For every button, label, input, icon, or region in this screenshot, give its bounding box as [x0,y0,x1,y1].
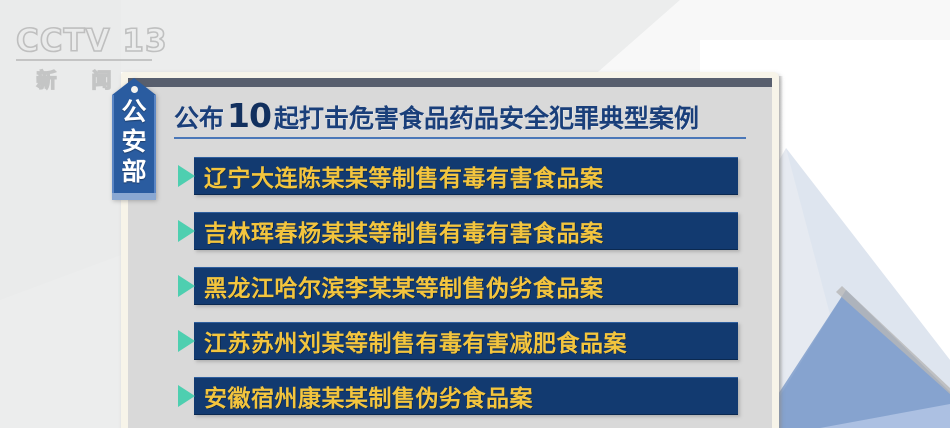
badge-body: 公 安 部 [112,95,156,193]
badge-foot [112,193,156,200]
badge-char-3: 部 [114,157,154,187]
case-list: 辽宁大连陈某某等制售有毒有害食品案 吉林珲春杨某某等制售有毒有害食品案 黑龙江哈… [178,157,738,415]
card-top-bar [128,78,772,87]
case-title: 黑龙江哈尔滨李某某等制售伪劣食品案 [204,269,604,303]
badge-tip-shape [112,78,156,95]
headline-suffix: 起打击危害食品药品安全犯罪典型案例 [274,104,699,133]
case-title: 江苏苏州刘某等制售有毒有害减肥食品案 [204,324,627,358]
badge-hole [131,86,138,93]
card-edge-shadow [779,76,783,428]
list-item: 黑龙江哈尔滨李某某等制售伪劣食品案 [178,267,738,305]
case-title: 安徽宿州康某某制售伪劣食品案 [204,379,533,413]
list-item: 江苏苏州刘某等制售有毒有害减肥食品案 [178,322,738,360]
triangle-right-icon [178,275,195,297]
headline-prefix: 公布 [174,104,224,133]
case-bar: 江苏苏州刘某等制售有毒有害减肥食品案 [194,322,738,360]
broadcast-graphic-screen: CCTV 13 新 闻 公 安 部 公布10起打击危害食品药品安全犯罪典型案例 [0,0,950,428]
headline-underline [174,137,746,139]
case-title: 辽宁大连陈某某等制售有毒有害食品案 [204,159,604,193]
case-bar: 吉林珲春杨某某等制售有毒有害食品案 [194,212,738,250]
badge-char-1: 公 [114,97,154,127]
triangle-right-icon [178,165,195,187]
list-item: 安徽宿州康某某制售伪劣食品案 [178,377,738,415]
headline-count: 10 [224,96,274,135]
case-title: 吉林珲春杨某某等制售有毒有害食品案 [204,214,604,248]
headline: 公布10起打击危害食品药品安全犯罪典型案例 [174,96,754,139]
case-bar: 黑龙江哈尔滨李某某等制售伪劣食品案 [194,267,738,305]
triangle-right-icon [178,220,195,242]
list-item: 吉林珲春杨某某等制售有毒有害食品案 [178,212,738,250]
case-bar: 辽宁大连陈某某等制售有毒有害食品案 [194,157,738,195]
ministry-badge: 公 安 部 [112,78,156,228]
badge-char-2: 安 [114,127,154,157]
case-bar: 安徽宿州康某某制售伪劣食品案 [194,377,738,415]
triangle-right-icon [178,330,195,352]
list-item: 辽宁大连陈某某等制售有毒有害食品案 [178,157,738,195]
triangle-right-icon [178,385,195,407]
